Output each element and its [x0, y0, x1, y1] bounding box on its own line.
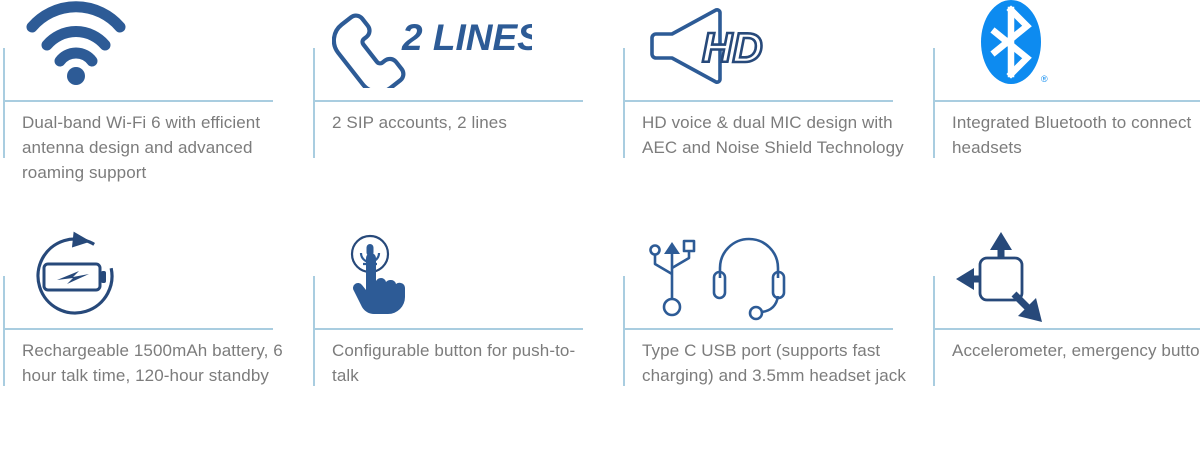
- cell-vertical-rule: [313, 276, 315, 386]
- feature-grid: Dual-band Wi-Fi 6 with efficient antenna…: [0, 0, 1200, 456]
- cell-vertical-rule: [933, 276, 935, 386]
- feature-cell-accelerometer: Accelerometer, emergency button: [933, 228, 1200, 456]
- feature-cell-battery: Rechargeable 1500mAh battery, 6 hour tal…: [3, 228, 313, 456]
- cell-vertical-rule: [313, 48, 315, 158]
- cell-horizontal-divider: [933, 328, 1200, 330]
- usb-headset-icon: [640, 228, 920, 324]
- feature-cell-two-lines: 2 LINES 2 SIP accounts, 2 lines: [313, 0, 623, 228]
- registered-mark: ®: [1041, 74, 1048, 84]
- feature-cell-push-to-talk: Configurable button for push-to-talk: [313, 228, 623, 456]
- hd-speaker-icon: HD: [642, 0, 922, 96]
- feature-caption: 2 SIP accounts, 2 lines: [332, 110, 600, 135]
- cell-vertical-rule: [3, 276, 5, 386]
- cell-vertical-rule: [933, 48, 935, 158]
- feature-caption: Rechargeable 1500mAh battery, 6 hour tal…: [22, 338, 290, 388]
- feature-caption: Accelerometer, emergency button: [952, 338, 1200, 363]
- accelerometer-icon: [948, 228, 1200, 324]
- cell-horizontal-divider: [623, 328, 893, 330]
- two-lines-phone-icon: 2 LINES: [332, 0, 612, 96]
- cell-vertical-rule: [623, 276, 625, 386]
- feature-cell-wifi: Dual-band Wi-Fi 6 with efficient antenna…: [3, 0, 313, 228]
- push-to-talk-hand-icon: [330, 228, 610, 324]
- feature-caption: Configurable button for push-to-talk: [332, 338, 600, 388]
- cell-horizontal-divider: [313, 100, 583, 102]
- feature-caption: Dual-band Wi-Fi 6 with efficient antenna…: [22, 110, 290, 185]
- cell-vertical-rule: [3, 48, 5, 158]
- hd-label: HD: [702, 24, 763, 71]
- cell-horizontal-divider: [3, 328, 273, 330]
- feature-cell-bluetooth: ® Integrated Bluetooth to connect headse…: [933, 0, 1200, 228]
- cell-horizontal-divider: [933, 100, 1200, 102]
- wifi-icon: [22, 0, 302, 96]
- cell-horizontal-divider: [313, 328, 583, 330]
- feature-caption: Integrated Bluetooth to connect headsets: [952, 110, 1200, 160]
- cell-horizontal-divider: [3, 100, 273, 102]
- cell-vertical-rule: [623, 48, 625, 158]
- cell-horizontal-divider: [623, 100, 893, 102]
- feature-caption: Type C USB port (supports fast charging)…: [642, 338, 910, 388]
- rechargeable-battery-icon: [17, 228, 297, 324]
- feature-cell-usb-headset: Type C USB port (supports fast charging)…: [623, 228, 933, 456]
- feature-caption: HD voice & dual MIC design with AEC and …: [642, 110, 910, 160]
- feature-cell-hd-voice: HD HD voice & dual MIC design with AEC a…: [623, 0, 933, 228]
- bluetooth-icon: ®: [969, 0, 1200, 96]
- two-lines-label: 2 LINES: [401, 17, 532, 58]
